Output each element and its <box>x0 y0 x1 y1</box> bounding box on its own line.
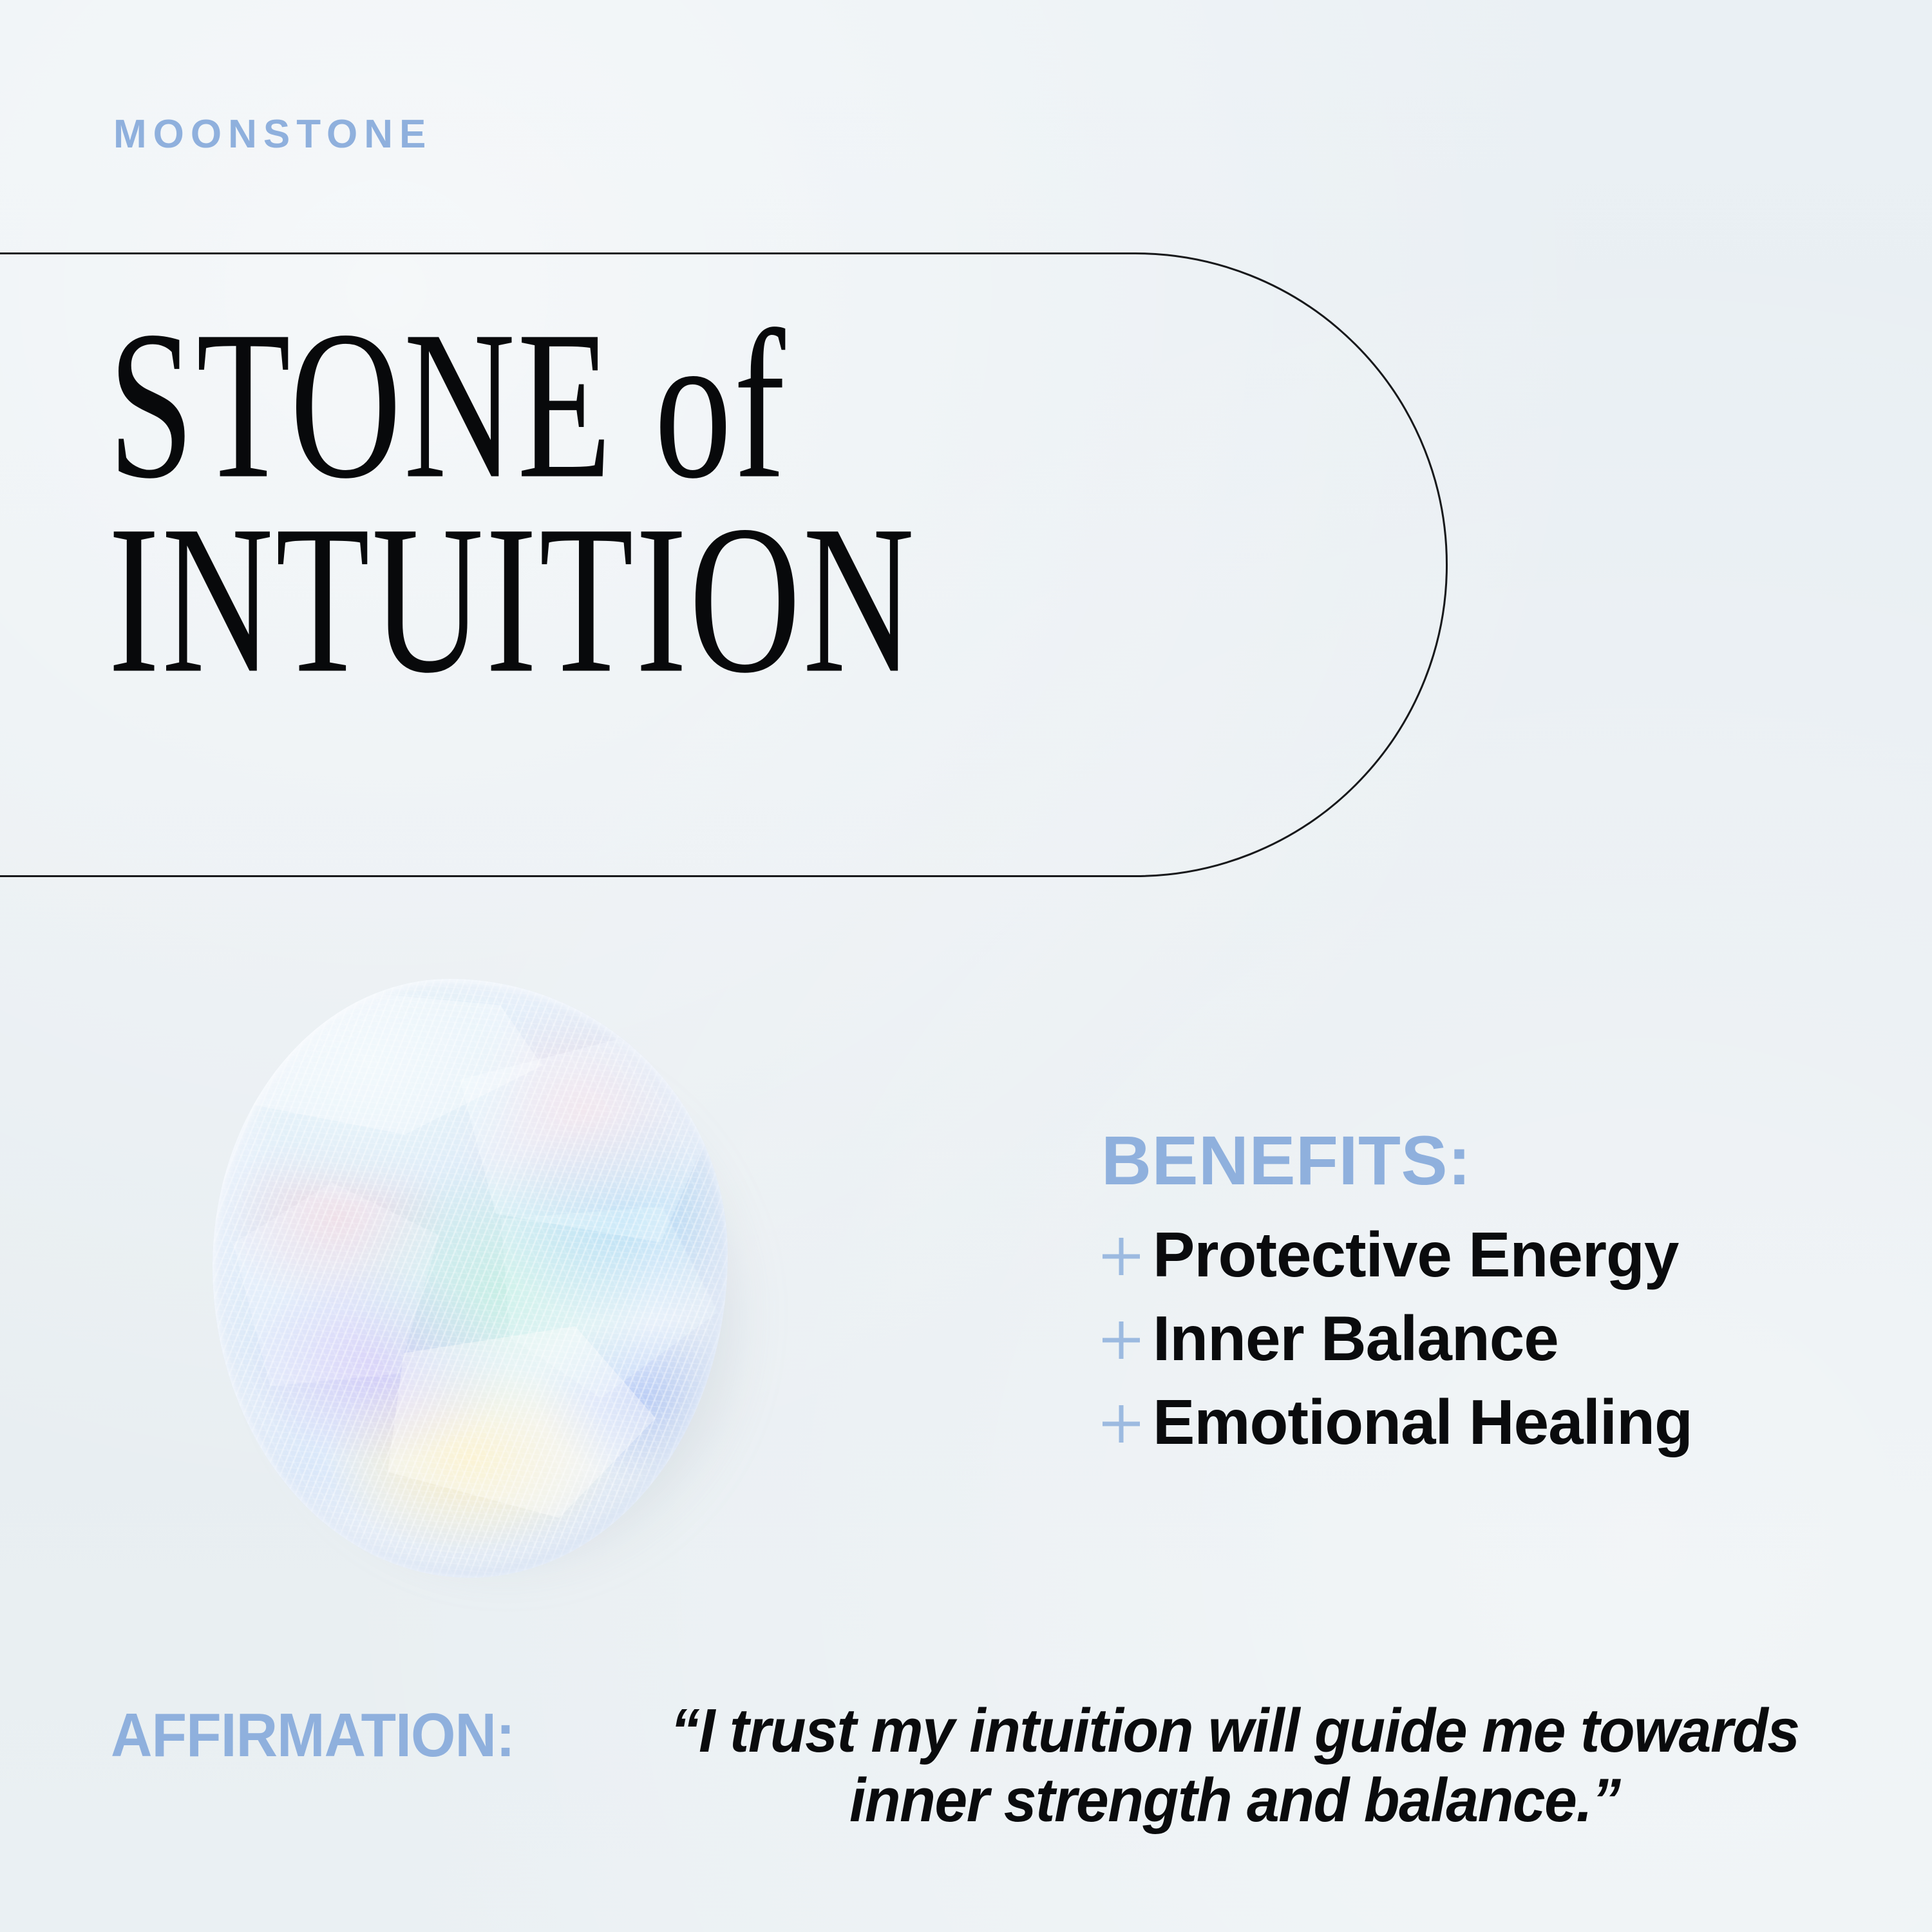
list-item: Protective Energy <box>1101 1220 1861 1289</box>
plus-icon <box>1101 1404 1141 1444</box>
affirmation-quote: “I trust my intuition will guide me towa… <box>626 1696 1844 1835</box>
headline-line2: INTUITION <box>108 497 1190 701</box>
affirmation-section: AFFIRMATION: “I trust my intuition will … <box>111 1700 1850 1771</box>
benefits-heading: BENEFITS: <box>1101 1126 1861 1195</box>
plus-icon <box>1101 1236 1141 1276</box>
moonstone-image <box>213 979 728 1578</box>
benefit-label: Protective Energy <box>1153 1223 1678 1286</box>
list-item: Emotional Healing <box>1101 1387 1861 1457</box>
benefits-section: BENEFITS: Protective Energy Inner Balanc… <box>1101 1126 1861 1471</box>
page-title: STONE of INTUITION <box>108 303 1461 683</box>
affirmation-label: AFFIRMATION: <box>111 1700 515 1771</box>
plus-icon <box>1101 1320 1141 1360</box>
benefit-label: Emotional Healing <box>1153 1390 1692 1454</box>
benefit-label: Inner Balance <box>1153 1307 1558 1370</box>
eyebrow-label: MOONSTONE <box>113 115 432 155</box>
moonstone-crystal-icon <box>213 979 728 1578</box>
list-item: Inner Balance <box>1101 1303 1861 1373</box>
